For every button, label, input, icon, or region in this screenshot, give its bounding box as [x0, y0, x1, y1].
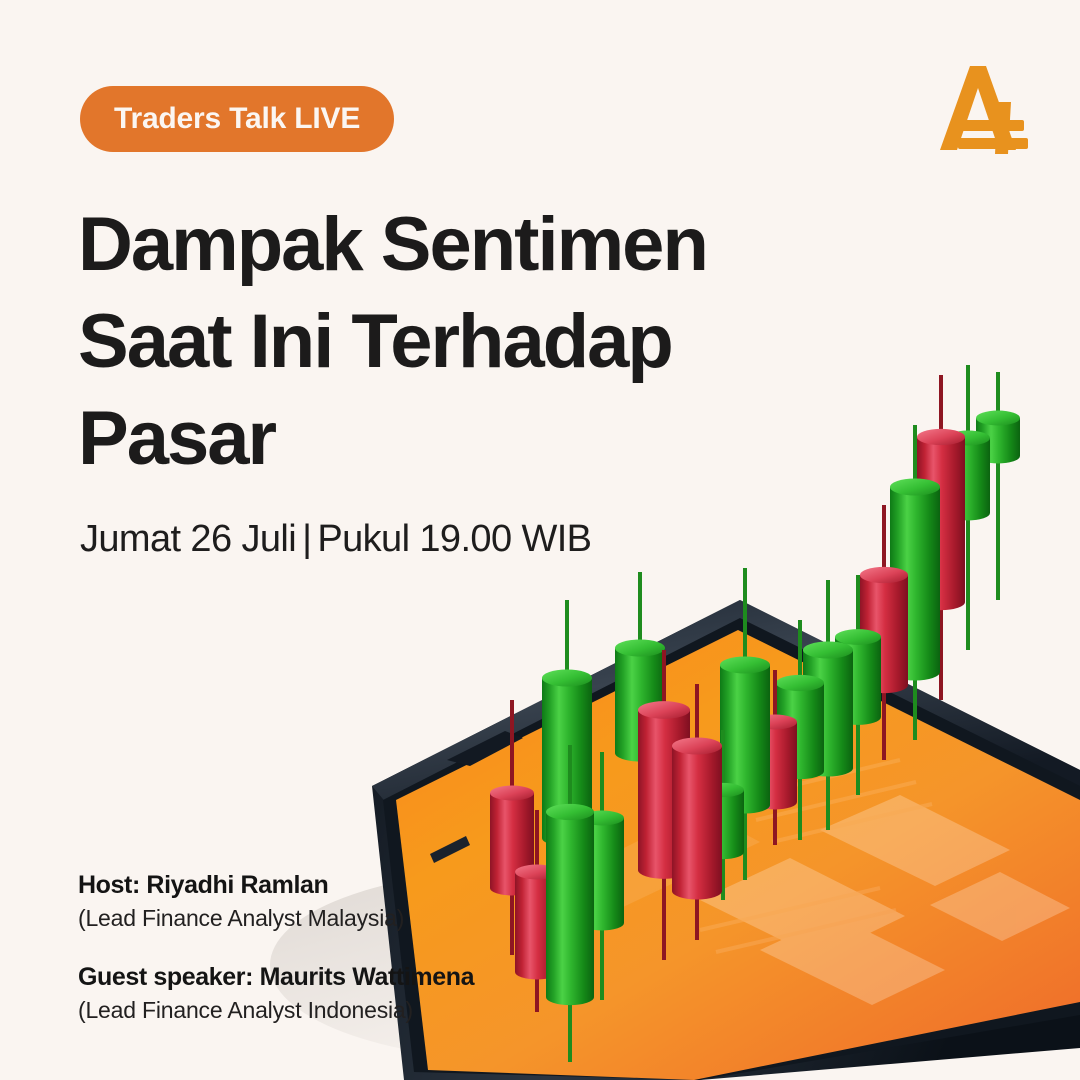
credit-role: (Lead Finance Analyst Indonesia) [78, 994, 474, 1026]
live-badge-label: Traders Talk LIVE [114, 102, 360, 136]
live-badge: Traders Talk LIVE [80, 86, 394, 152]
credit-name: Guest speaker: Maurits Wattimena [78, 960, 474, 994]
schedule-line: Jumat 26 Juli|Pukul 19.00 WIB [80, 518, 591, 561]
promo-poster: Traders Talk LIVE Dampak Sentimen Saat I… [0, 0, 1080, 1080]
schedule-date: Jumat 26 Juli [80, 518, 296, 560]
credit-host: Host: Riyadhi Ramlan (Lead Finance Analy… [78, 868, 474, 934]
credit-name: Host: Riyadhi Ramlan [78, 868, 474, 902]
brand-logo [928, 58, 1032, 158]
credit-role: (Lead Finance Analyst Malaysia) [78, 902, 474, 934]
page-title: Dampak Sentimen Saat Ini Terhadap Pasar [78, 196, 858, 487]
title-line-2: Saat Ini Terhadap [78, 293, 858, 390]
title-line-3: Pasar [78, 390, 858, 487]
schedule-time: Pukul 19.00 WIB [317, 518, 591, 560]
schedule-separator: | [296, 518, 317, 560]
title-line-1: Dampak Sentimen [78, 196, 858, 293]
credit-guest-speaker: Guest speaker: Maurits Wattimena (Lead F… [78, 960, 474, 1026]
credits-list: Host: Riyadhi Ramlan (Lead Finance Analy… [78, 868, 474, 1026]
